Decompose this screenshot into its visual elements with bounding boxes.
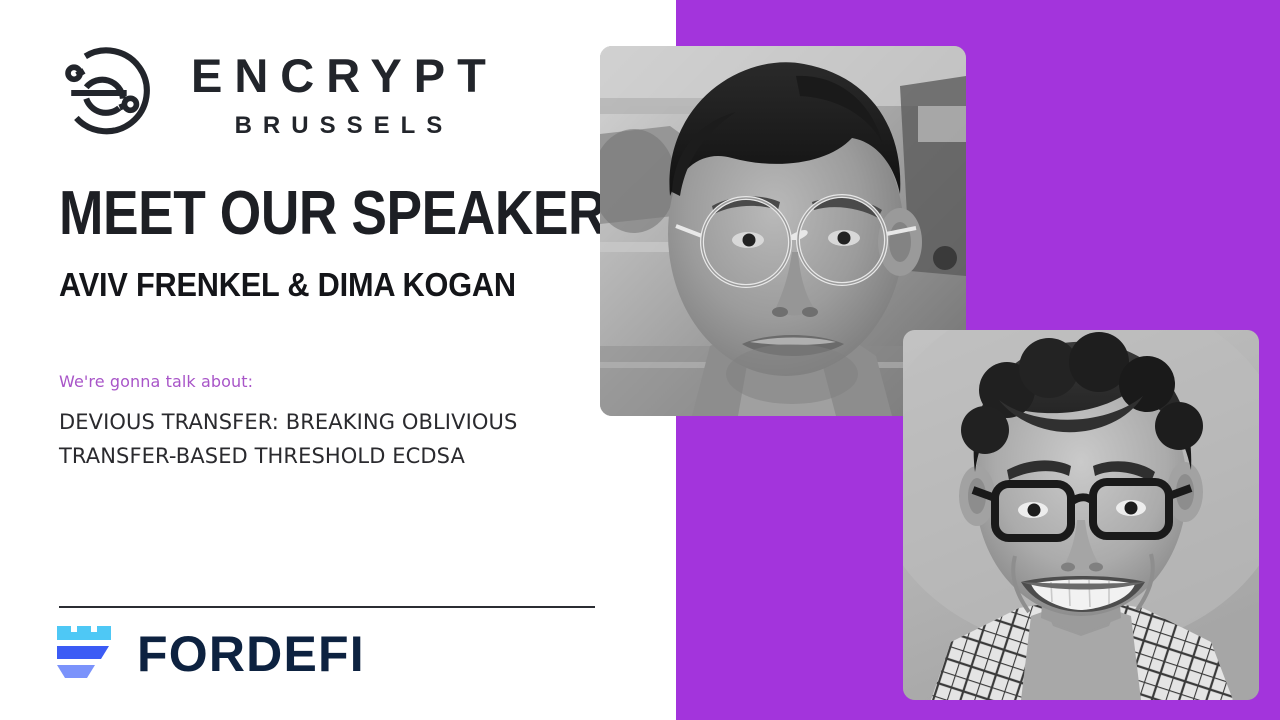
fordefi-logo: FORDEFI [57,626,365,682]
brand-name: ENCRYPT [179,52,498,99]
encrypt-circle-e-icon [59,46,153,140]
encrypt-brussels-wordmark: ENCRYPT BRUSSELS [179,48,498,138]
brand-city: BRUSSELS [224,114,454,138]
encrypt-brussels-logo: ENCRYPT BRUSSELS [59,46,498,140]
talk-eyebrow-label: We're gonna talk about: [59,372,253,391]
speaker-names: AVIV FRENKEL & DIMA KOGAN [59,268,516,301]
talk-title: DEVIOUS TRANSFER: BREAKING OBLIVIOUS TRA… [59,405,519,473]
footer-divider [59,606,595,608]
fordefi-funnel-icon [57,626,119,682]
page-title: MEET OUR SPEAKER [59,185,606,244]
speaker-announcement-slide: ENCRYPT BRUSSELS MEET OUR SPEAKER AVIV F… [0,0,1280,720]
speaker-photo-dima-kogan [903,330,1259,700]
fordefi-wordmark: FORDEFI [137,629,365,679]
